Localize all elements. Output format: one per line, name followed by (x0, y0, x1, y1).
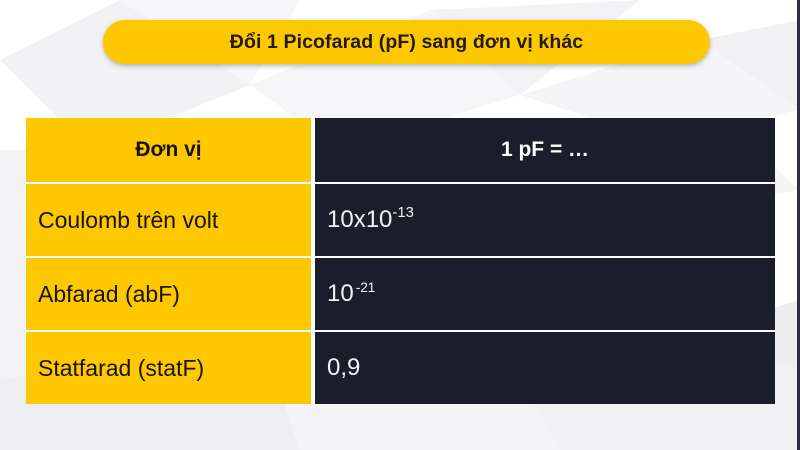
value-exponent: -13 (392, 206, 414, 221)
value-expression: 10x10-13 (327, 208, 414, 232)
title-banner: Đổi 1 Picofarad (pF) sang đơn vị khác (103, 20, 710, 64)
header-cell-value: 1 pF = … (315, 118, 775, 182)
value-expression: 0,9 (327, 356, 360, 380)
slide-canvas: Đổi 1 Picofarad (pF) sang đơn vị khác Đơ… (0, 0, 800, 450)
unit-label: Statfarad (statF) (38, 355, 204, 382)
header-label-value: 1 pF = … (501, 138, 589, 162)
value-expression: 10-21 (327, 282, 375, 306)
cell-unit-value: 10x10-13 (315, 184, 775, 256)
header-cell-unit: Đơn vị (26, 118, 311, 182)
cell-unit-value: 10-21 (315, 258, 775, 330)
value-exponent: -21 (356, 281, 375, 294)
value-mantissa: 10 (327, 282, 354, 306)
conversion-table: Đơn vị 1 pF = … Coulomb trên volt 10x10-… (26, 118, 775, 398)
value-mantissa: 0,9 (327, 356, 360, 380)
cell-unit-value: 0,9 (315, 332, 775, 404)
cell-unit-name: Abfarad (abF) (26, 258, 311, 330)
table-row: Abfarad (abF) 10-21 (26, 258, 775, 330)
cell-unit-name: Coulomb trên volt (26, 184, 311, 256)
cell-unit-name: Statfarad (statF) (26, 332, 311, 404)
table-header-row: Đơn vị 1 pF = … (26, 118, 775, 182)
unit-label: Coulomb trên volt (38, 207, 218, 234)
table-row: Statfarad (statF) 0,9 (26, 332, 775, 404)
page-title: Đổi 1 Picofarad (pF) sang đơn vị khác (230, 31, 583, 54)
unit-label: Abfarad (abF) (38, 281, 180, 308)
header-label-unit: Đơn vị (135, 138, 201, 162)
table-row: Coulomb trên volt 10x10-13 (26, 184, 775, 256)
value-mantissa: 10x10 (327, 208, 392, 232)
